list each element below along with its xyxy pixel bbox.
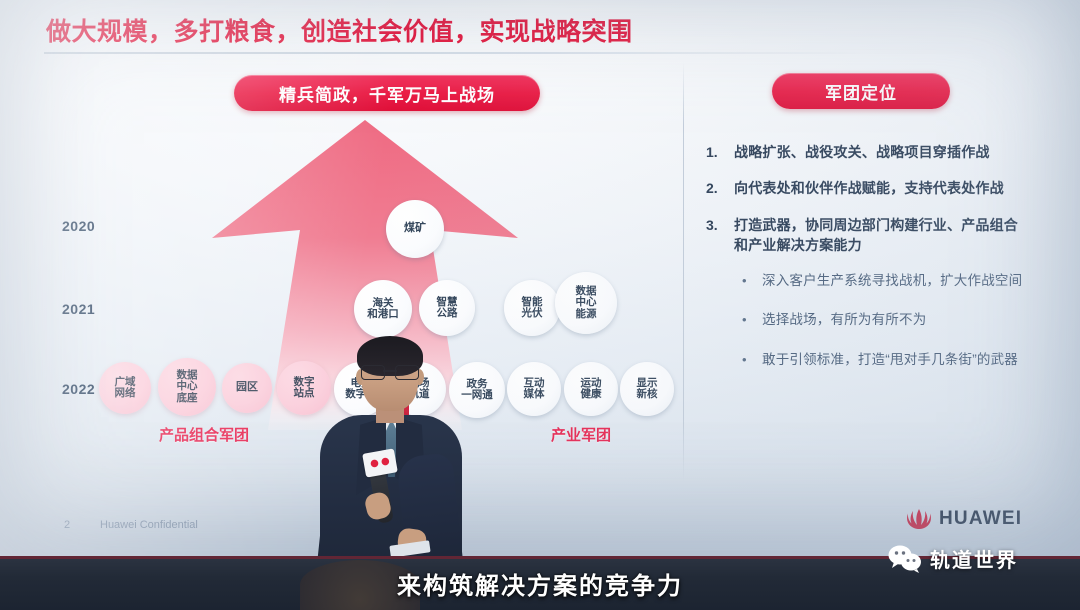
video-frame: 做大规模，多打粮食，创造社会价值，实现战略突围 精兵简政，千军万马上战场 军团定… [0, 0, 1080, 610]
slide-page-number: 2 [64, 519, 70, 531]
bubble-label: 园区 [236, 382, 258, 394]
list-item-text: 战略扩张、战役攻关、战略项目穿插作战 [734, 142, 990, 162]
list-item-number: 3. [706, 215, 724, 256]
year-label-2022: 2022 [62, 381, 95, 397]
sub-list-item-text: 选择战场，有所为有所不为 [762, 310, 926, 330]
list-item: 1. 战略扩张、战役攻关、战略项目穿插作战 [706, 142, 1026, 162]
pill-left-label: 精兵简政，千军万马上战场 [234, 75, 540, 111]
positioning-sublist: • 深入客户生产系统寻找战机，扩大作战空间 • 选择战场，有所为有所不为 • 敢… [706, 271, 1026, 370]
bubble-2022-2: 园区 [222, 363, 272, 413]
bullet-icon: • [742, 350, 748, 370]
slide-headline: 做大规模，多打粮食，创造社会价值，实现战略突围 [46, 12, 633, 48]
watermark-text: 轨道世界 [930, 544, 1018, 573]
bubble-label: 数据 中心 能源 [576, 286, 597, 319]
wechat-icon [888, 545, 922, 573]
category-label-0: 产品组合军团 [159, 424, 249, 445]
list-item-number: 2. [706, 178, 724, 198]
category-label-2: 产业军团 [551, 424, 611, 445]
bubble-label: 数字 站点 [294, 377, 315, 399]
bubble-2021-3: 数据 中心 能源 [555, 272, 617, 334]
sub-list-item: • 敢于引领标准，打造“甩对手几条街”的武器 [742, 350, 1026, 370]
sub-list-item-text: 深入客户生产系统寻找战机，扩大作战空间 [762, 271, 1022, 291]
bubble-2022-9: 显示 新核 [620, 362, 674, 416]
sub-list-item: • 选择战场，有所为有所不为 [742, 310, 1026, 330]
huawei-wordmark: HUAWEI [939, 508, 1022, 530]
year-label-2021: 2021 [62, 301, 95, 317]
bullet-icon: • [742, 271, 748, 291]
list-item-number: 1. [706, 142, 724, 162]
year-label-2020: 2020 [62, 218, 95, 234]
bubble-2022-0: 广域 网络 [99, 362, 151, 414]
confidential-notice: Huawei Confidential [100, 519, 198, 531]
list-item: 2. 向代表处和伙伴作战赋能，支持代表处作战 [706, 178, 1026, 198]
bubble-2020-0: 煤矿 [386, 200, 444, 258]
huawei-logo: HUAWEI [906, 508, 1022, 530]
bubble-label: 煤矿 [404, 223, 426, 235]
sub-list-item-text: 敢于引领标准，打造“甩对手几条街”的武器 [762, 350, 1018, 370]
glasses-icon [361, 365, 419, 378]
bubble-label: 政务 一网通 [461, 379, 493, 401]
bubble-2021-1: 智慧 公路 [419, 280, 475, 336]
channel-watermark: 轨道世界 [888, 544, 1018, 573]
bubble-label: 海关 和港口 [367, 298, 399, 320]
bubble-label: 互动 媒体 [524, 378, 545, 400]
positioning-list: 1. 战略扩张、战役攻关、战略项目穿插作战 2. 向代表处和伙伴作战赋能，支持代… [706, 142, 1026, 389]
bubble-2021-2: 智能 光伏 [504, 280, 560, 336]
bubble-label: 广域 网络 [115, 377, 136, 399]
bubble-label: 显示 新核 [637, 378, 658, 400]
huawei-flower-icon [906, 508, 932, 530]
bubble-label: 智慧 公路 [437, 297, 458, 319]
bullet-icon: • [742, 310, 748, 330]
bubble-2022-7: 互动 媒体 [507, 362, 561, 416]
headline-divider [44, 52, 862, 54]
list-item: 3. 打造武器，协同周边部门构建行业、产品组合和产业解决方案能力 [706, 215, 1026, 256]
bubble-2021-0: 海关 和港口 [354, 280, 412, 338]
presentation-slide: 做大规模，多打粮食，创造社会价值，实现战略突围 精兵简政，千军万马上战场 军团定… [0, 0, 1080, 556]
sub-list-item: • 深入客户生产系统寻找战机，扩大作战空间 [742, 271, 1026, 291]
list-item-text: 打造武器，协同周边部门构建行业、产品组合和产业解决方案能力 [734, 215, 1026, 256]
pill-right-label: 军团定位 [772, 73, 950, 109]
panel-divider [683, 62, 684, 482]
bubble-2022-1: 数据 中心 底座 [158, 358, 216, 416]
bubble-2022-8: 运动 健康 [564, 362, 618, 416]
list-item-text: 向代表处和伙伴作战赋能，支持代表处作战 [734, 178, 1004, 198]
bubble-label: 智能 光伏 [522, 297, 543, 319]
bubble-label: 数据 中心 底座 [177, 370, 198, 403]
bubble-label: 运动 健康 [581, 378, 602, 400]
